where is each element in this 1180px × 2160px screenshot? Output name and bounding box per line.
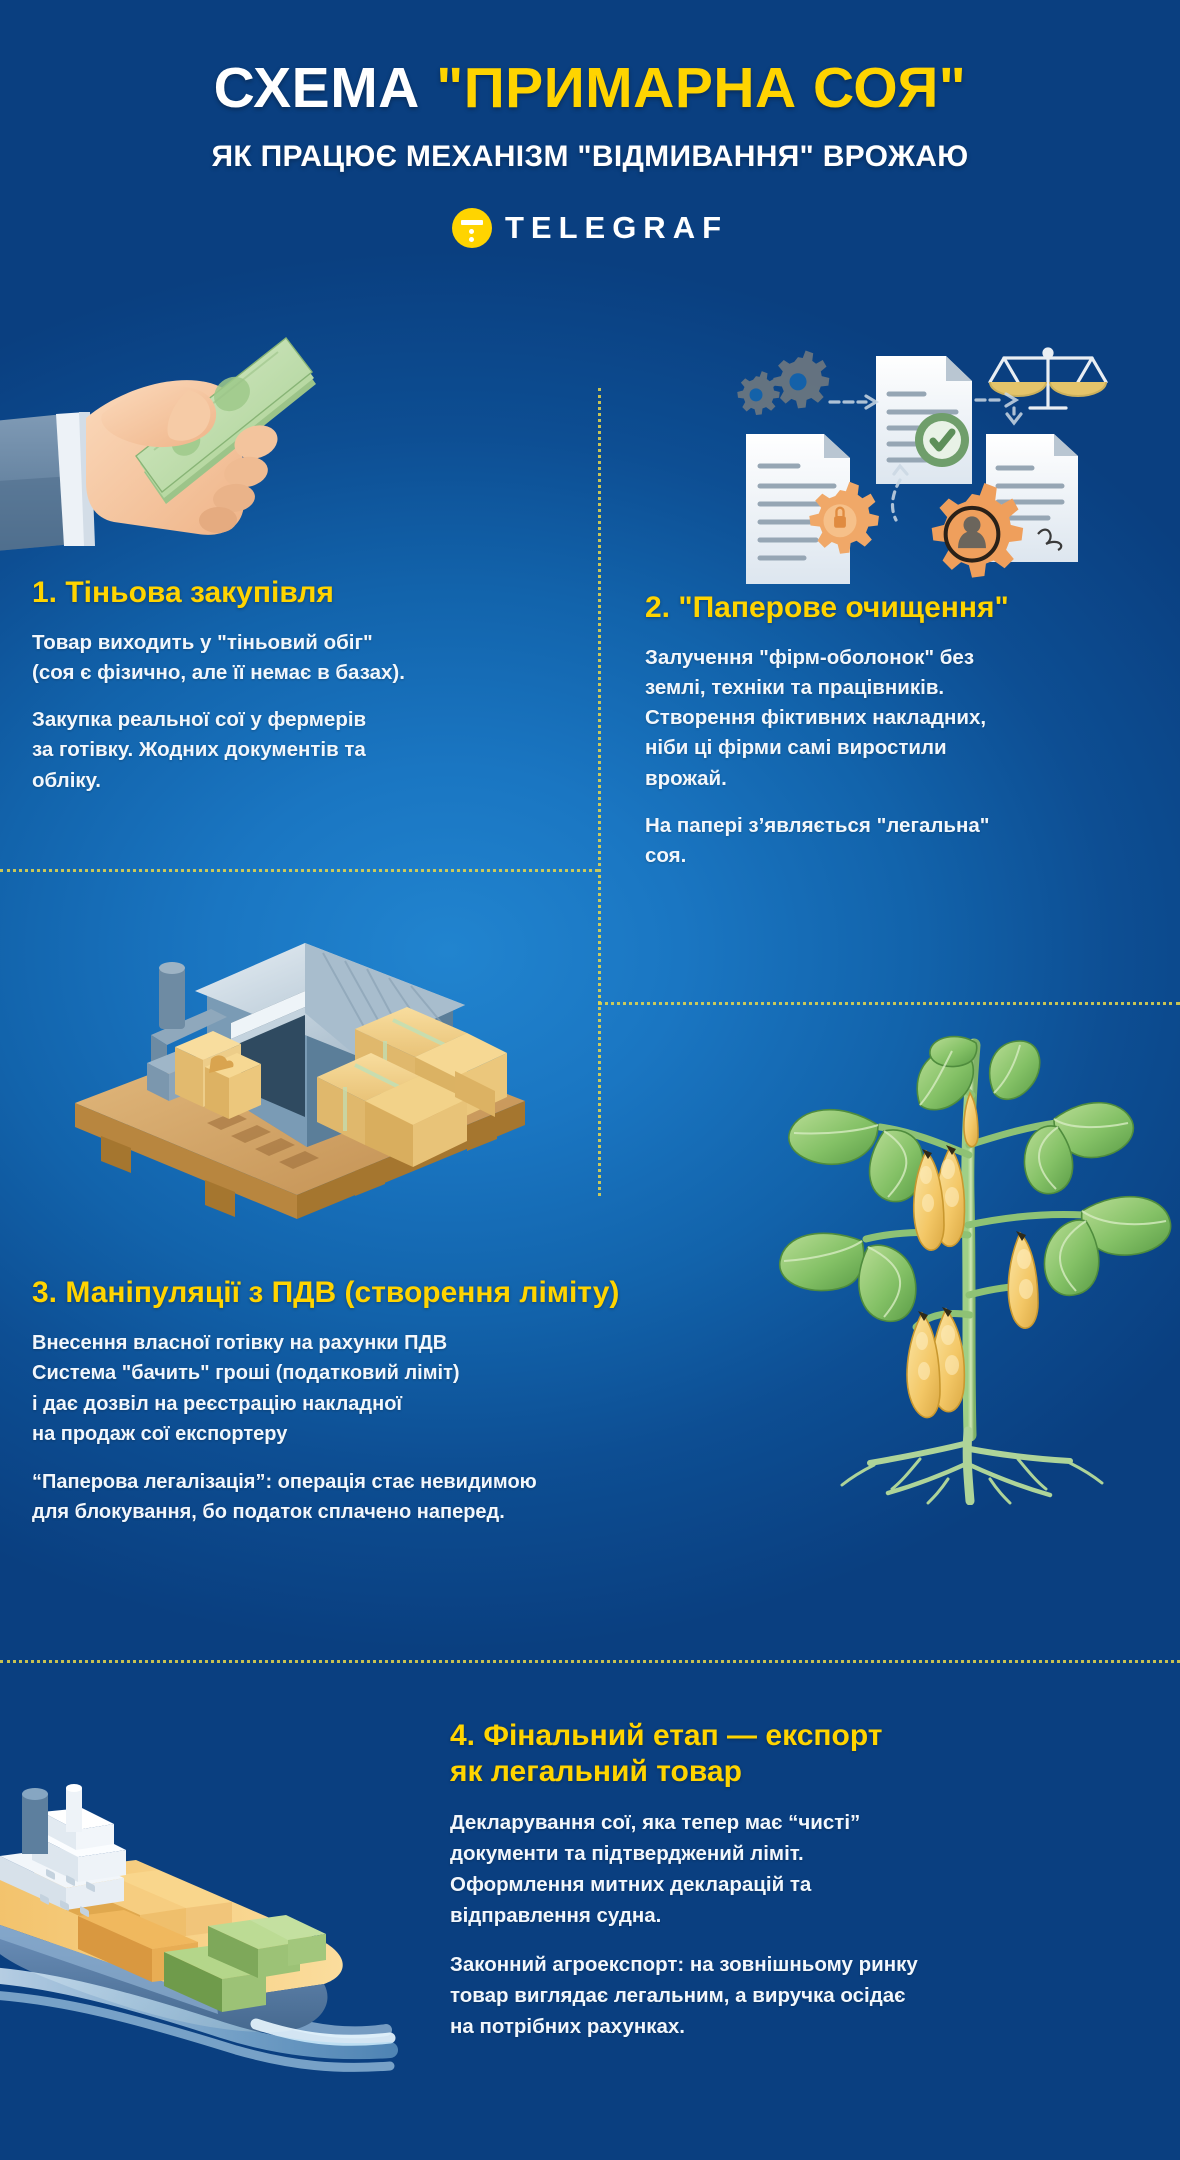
section-4-paragraph-1: Декларування сої, яка тепер має “чисті” …: [450, 1807, 1150, 1932]
divider-horizontal-right: [598, 1002, 1180, 1005]
section-1-paragraph-1: Товар виходить у "тіньовий обіг" (соя є …: [32, 628, 552, 688]
section-4-title: 4. Фінальний етап — експорт як легальний…: [450, 1718, 1150, 1790]
page-title-accent: "ПРИМАРНА СОЯ": [436, 56, 966, 120]
section-2: 2. "Паперове очищення" Залучення "фірм-о…: [645, 590, 1165, 871]
telegraf-wordmark: TELEGRAF: [505, 210, 728, 246]
section-2-paragraph-1: Залучення "фірм-оболонок" без землі, тех…: [645, 643, 1165, 794]
telegraf-logo-mark-icon: [452, 208, 492, 248]
section-3-paragraph-2: “Паперова легалізація”: операція стає не…: [32, 1467, 832, 1528]
page-title: СХЕМА "ПРИМАРНА СОЯ": [0, 58, 1180, 118]
section-1-paragraph-2: Закупка реальної сої у фермерів за готів…: [32, 705, 552, 795]
section-3-paragraph-1: Внесення власної готівку на рахунки ПДВ …: [32, 1328, 832, 1450]
documents-gears-scales-illustration: [718, 330, 1118, 585]
section-3-title: 3. Маніпуляції з ПДВ (створення ліміту): [32, 1275, 832, 1311]
cargo-ship-illustration: [0, 1738, 406, 2138]
section-2-title: 2. "Паперове очищення": [645, 590, 1165, 626]
divider-horizontal-left: [0, 869, 598, 872]
divider-vertical-center: [598, 388, 601, 1196]
section-4-paragraph-2: Законний агроекспорт: на зовнішньому рин…: [450, 1949, 1150, 2042]
infographic-canvas: СХЕМА "ПРИМАРНА СОЯ" ЯК ПРАЦЮЄ МЕХАНІЗМ …: [0, 0, 1180, 2160]
section-1-title: 1. Тіньова закупівля: [32, 575, 552, 611]
page-subtitle: ЯК ПРАЦЮЄ МЕХАНІЗМ "ВІДМИВАННЯ" ВРОЖАЮ: [0, 140, 1180, 174]
page-title-white: СХЕМА: [214, 56, 437, 120]
header: СХЕМА "ПРИМАРНА СОЯ" ЯК ПРАЦЮЄ МЕХАНІЗМ …: [0, 58, 1180, 248]
warehouse-pallet-illustration: [55, 895, 545, 1235]
divider-horizontal-full: [0, 1660, 1180, 1663]
section-4: 4. Фінальний етап — експорт як легальний…: [450, 1718, 1150, 2042]
section-3: 3. Маніпуляції з ПДВ (створення ліміту) …: [32, 1275, 832, 1527]
section-1: 1. Тіньова закупівля Товар виходить у "т…: [32, 575, 552, 796]
telegraf-logo: TELEGRAF: [0, 208, 1180, 248]
hand-holding-cash-illustration: [0, 332, 354, 582]
section-2-paragraph-2: На папері з’являється "легальна" соя.: [645, 811, 1165, 871]
